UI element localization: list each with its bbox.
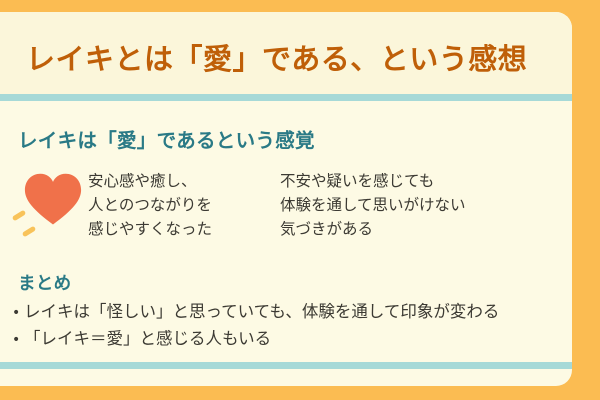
- feature-row: 安心感や癒し、 人とのつながりを 感じやすくなった 不安や疑いを感じても 体験を…: [10, 167, 546, 247]
- divider-bottom: [0, 362, 572, 369]
- feature-line: 人とのつながりを: [88, 193, 280, 217]
- feature-line: 感じやすくなった: [88, 217, 280, 241]
- feature-line: 不安や疑いを感じても: [280, 169, 546, 193]
- feature-line: 安心感や癒し、: [88, 169, 280, 193]
- list-item: • 「レイキ＝愛」と感じる人もいる: [12, 325, 546, 352]
- section-heading: レイキは「愛」であるという感覚: [18, 124, 315, 153]
- list-item: • レイキは「怪しい」と思っていても、体験を通して印象が変わる: [12, 298, 546, 325]
- feature-column-left: 安心感や癒し、 人とのつながりを 感じやすくなった: [88, 167, 280, 241]
- summary-list: • レイキは「怪しい」と思っていても、体験を通して印象が変わる • 「レイキ＝愛…: [12, 298, 546, 352]
- bullet-icon: •: [12, 333, 24, 347]
- list-item-text: レイキは「怪しい」と思っていても、体験を通して印象が変わる: [24, 298, 499, 325]
- feature-line: 気づきがある: [280, 217, 546, 241]
- feature-line: 体験を通して思いがけない: [280, 193, 546, 217]
- divider-top: [0, 94, 572, 101]
- content-card: レイキとは「愛」である、という感想 レイキは「愛」であるという感覚 安心感や癒し…: [0, 12, 572, 386]
- slide-canvas: レイキとは「愛」である、という感想 レイキは「愛」であるという感覚 安心感や癒し…: [0, 0, 600, 400]
- heart-icon: [24, 171, 82, 229]
- list-item-text: 「レイキ＝愛」と感じる人もいる: [24, 325, 271, 352]
- bullet-icon: •: [12, 306, 24, 320]
- feature-column-right: 不安や疑いを感じても 体験を通して思いがけない 気づきがある: [280, 167, 546, 241]
- heart-figure: [10, 167, 88, 247]
- page-title: レイキとは「愛」である、という感想: [26, 36, 527, 78]
- summary-heading: まとめ: [18, 270, 71, 295]
